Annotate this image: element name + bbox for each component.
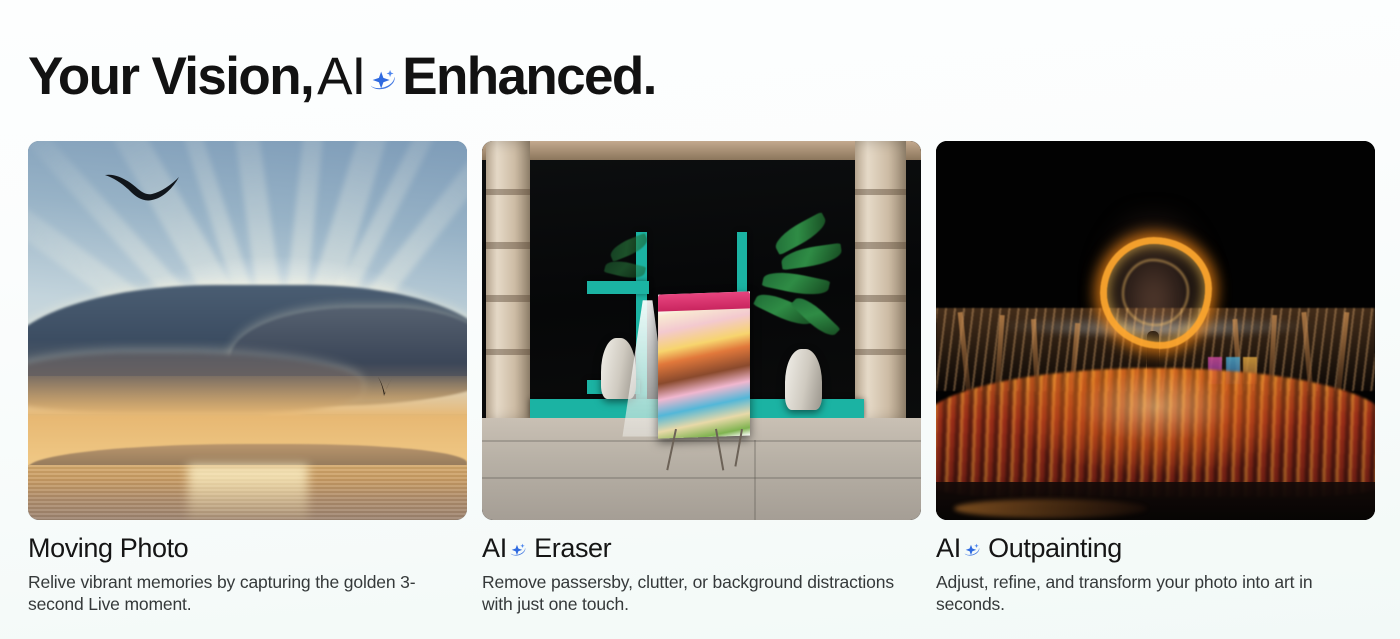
headline-part-2: Enhanced. (402, 48, 656, 105)
headline-ai-label: AI (317, 48, 365, 105)
card-description-ai-outpainting: Adjust, refine, and transform your photo… (936, 571, 1375, 615)
feature-card-ai-eraser[interactable]: AI Eraser Remove passersby, clutter, or … (482, 141, 921, 615)
card-title-moving-photo: Moving Photo (28, 533, 467, 564)
storefront-image (482, 141, 921, 520)
fire-dancer-image (936, 141, 1375, 520)
ai-sparkle-icon (961, 540, 982, 561)
feature-card-moving-photo[interactable]: Moving Photo Relive vibrant memories by … (28, 141, 467, 615)
ai-outpainting-thumbnail[interactable] (936, 141, 1375, 520)
card-title-text: Eraser (534, 533, 611, 564)
stone-column-left (486, 141, 530, 421)
card-title-text: Moving Photo (28, 533, 188, 564)
ground-fire-glow (936, 368, 1375, 497)
burning-fire-ring (1100, 237, 1212, 349)
ai-features-page: Your Vision, AI Enhanced. (0, 0, 1400, 639)
card-title-ai-label: AI (936, 533, 961, 564)
card-title-ai-eraser: AI Eraser (482, 533, 921, 564)
page-title: Your Vision, AI Enhanced. (28, 48, 656, 105)
feature-card-row: Moving Photo Relive vibrant memories by … (28, 141, 1372, 615)
card-title-ai-label: AI (482, 533, 507, 564)
window-frame-teal (587, 281, 648, 294)
stone-column-right (855, 141, 905, 421)
ai-sparkle-icon (507, 540, 528, 561)
moving-photo-thumbnail[interactable] (28, 141, 467, 520)
card-description-moving-photo: Relive vibrant memories by capturing the… (28, 571, 467, 615)
feature-card-ai-outpainting[interactable]: AI Outpainting Adjust, refine, and trans… (936, 141, 1375, 615)
card-description-ai-eraser: Remove passersby, clutter, or background… (482, 571, 921, 615)
white-urn-planter (785, 349, 822, 410)
ai-sparkle-icon (365, 64, 399, 98)
sunset-sea-image (28, 141, 467, 520)
ai-eraser-thumbnail[interactable] (482, 141, 921, 520)
card-title-ai-outpainting: AI Outpainting (936, 533, 1375, 564)
water-reflection (954, 499, 1147, 518)
card-title-text: Outpainting (988, 533, 1122, 564)
ice-cream-menu-sign (658, 291, 750, 438)
sign-header-banner (658, 291, 750, 312)
sun-reflection (188, 465, 308, 520)
headline-part-1: Your Vision, (28, 48, 313, 105)
